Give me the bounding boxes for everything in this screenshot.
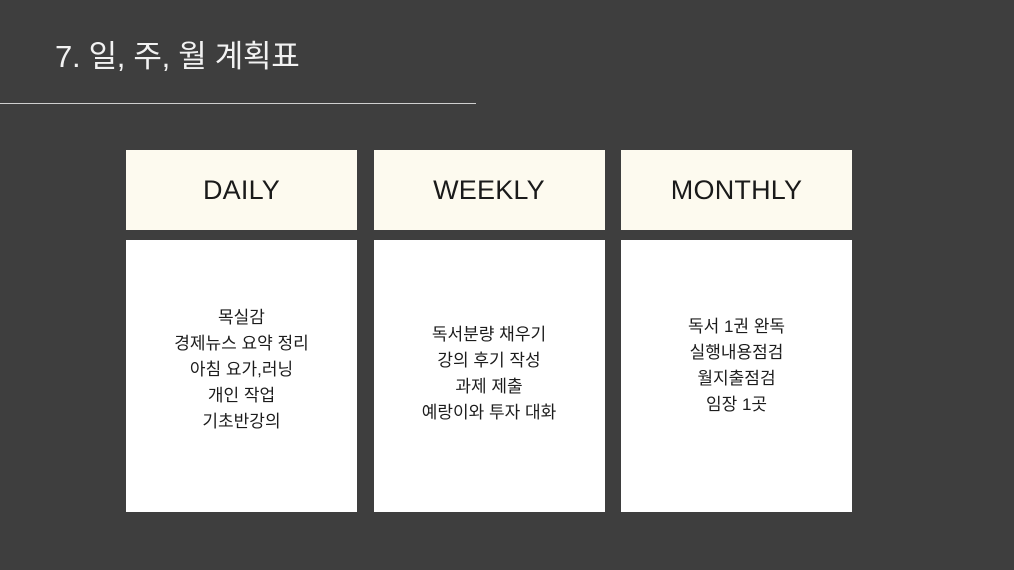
column-header-label-weekly: WEEKLY — [433, 177, 545, 204]
column-body-weekly: 독서분량 채우기 강의 후기 작성 과제 제출 예랑이와 투자 대화 — [374, 240, 605, 512]
title-divider — [0, 103, 476, 104]
page-title: 7. 일, 주, 월 계획표 — [55, 38, 299, 77]
slide-canvas: 7. 일, 주, 월 계획표 DAILY 목실감 경제뉴스 요약 정리 아침 요… — [0, 0, 1014, 570]
list-item: 독서 1권 완독 — [629, 314, 844, 340]
plan-column-daily: DAILY 목실감 경제뉴스 요약 정리 아침 요가,러닝 개인 작업 기초반강… — [126, 150, 357, 512]
column-header-weekly: WEEKLY — [374, 150, 605, 230]
column-gap-monthly — [621, 230, 852, 240]
list-item: 임장 1곳 — [629, 392, 844, 418]
list-item: 경제뉴스 요약 정리 — [134, 331, 349, 357]
plan-column-weekly: WEEKLY 독서분량 채우기 강의 후기 작성 과제 제출 예랑이와 투자 대… — [374, 150, 605, 512]
title-block: 7. 일, 주, 월 계획표 — [0, 38, 480, 108]
column-header-label-daily: DAILY — [203, 177, 280, 204]
list-item: 예랑이와 투자 대화 — [382, 400, 597, 426]
list-item: 월지출점검 — [629, 366, 844, 392]
list-item: 아침 요가,러닝 — [134, 357, 349, 383]
list-item: 실행내용점검 — [629, 340, 844, 366]
column-gap-daily — [126, 230, 357, 240]
plan-columns: DAILY 목실감 경제뉴스 요약 정리 아침 요가,러닝 개인 작업 기초반강… — [126, 150, 852, 512]
column-gap-weekly — [374, 230, 605, 240]
task-list-daily: 목실감 경제뉴스 요약 정리 아침 요가,러닝 개인 작업 기초반강의 — [134, 305, 349, 435]
column-header-daily: DAILY — [126, 150, 357, 230]
list-item: 개인 작업 — [134, 383, 349, 409]
task-list-monthly: 독서 1권 완독 실행내용점검 월지출점검 임장 1곳 — [629, 314, 844, 418]
list-item: 과제 제출 — [382, 374, 597, 400]
column-header-monthly: MONTHLY — [621, 150, 852, 230]
plan-column-monthly: MONTHLY 독서 1권 완독 실행내용점검 월지출점검 임장 1곳 — [621, 150, 852, 512]
list-item: 기초반강의 — [134, 409, 349, 435]
list-item: 목실감 — [134, 305, 349, 331]
task-list-weekly: 독서분량 채우기 강의 후기 작성 과제 제출 예랑이와 투자 대화 — [382, 322, 597, 426]
column-header-label-monthly: MONTHLY — [671, 177, 802, 204]
list-item: 강의 후기 작성 — [382, 348, 597, 374]
column-body-monthly: 독서 1권 완독 실행내용점검 월지출점검 임장 1곳 — [621, 240, 852, 512]
column-body-daily: 목실감 경제뉴스 요약 정리 아침 요가,러닝 개인 작업 기초반강의 — [126, 240, 357, 512]
list-item: 독서분량 채우기 — [382, 322, 597, 348]
